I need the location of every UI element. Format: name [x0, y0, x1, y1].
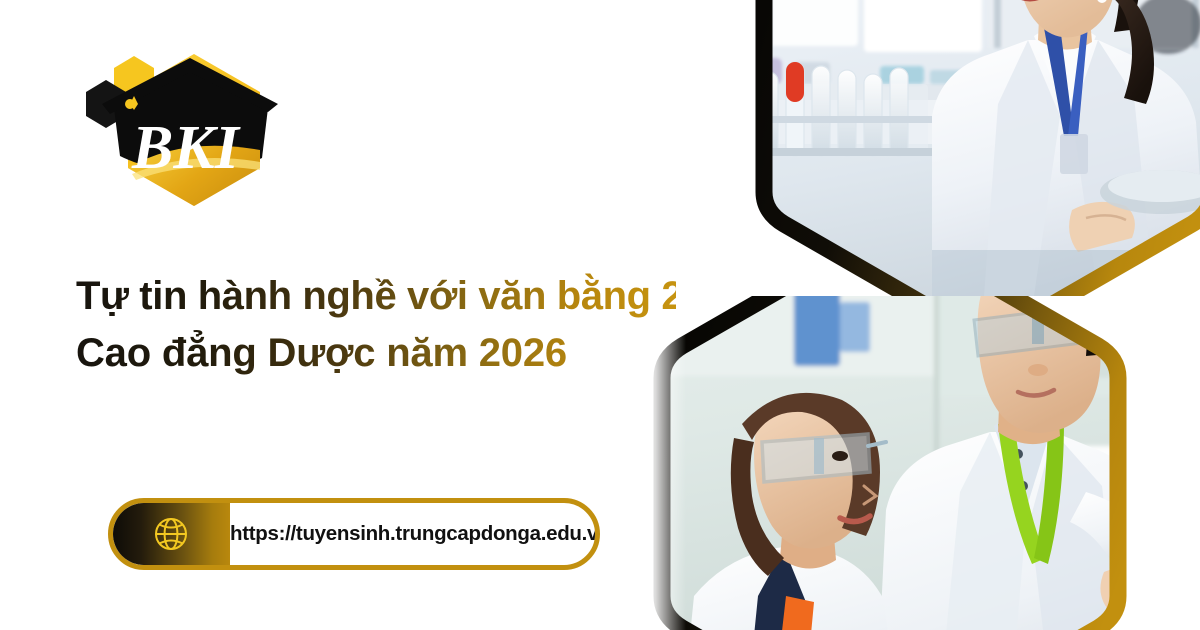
photo-collage: [600, 0, 1200, 630]
globe-icon-wrap: [112, 503, 230, 565]
page-title: Tự tin hành nghề với văn bằng 2 Cao đẳng…: [76, 268, 676, 382]
photo-lab-student-top-svg: [668, 0, 1200, 296]
headline-line-1: Tự tin hành nghề với văn bằng 2: [76, 268, 676, 325]
brand-logo[interactable]: BKI: [72, 46, 292, 246]
headline-line-2: Cao đẳng Dược năm 2026: [76, 325, 676, 382]
website-url-text[interactable]: https://tuyensinh.trungcapdonga.edu.vn/: [230, 522, 600, 546]
photo-lab-students-bottom-svg: [634, 296, 1200, 630]
photo-lab-student-top: [668, 0, 1200, 296]
website-url-pill[interactable]: https://tuyensinh.trungcapdonga.edu.vn/: [108, 498, 600, 570]
graduation-cap-hexagon-logo: BKI: [72, 46, 292, 246]
poster-canvas: BKI Tự tin hành nghề với văn bằng 2 Cao …: [0, 0, 1200, 630]
logo-wordmark: BKI: [131, 114, 241, 182]
left-content: BKI Tự tin hành nghề với văn bằng 2 Cao …: [0, 0, 660, 630]
globe-icon: [152, 515, 190, 553]
photo-lab-students-bottom: [634, 296, 1200, 630]
